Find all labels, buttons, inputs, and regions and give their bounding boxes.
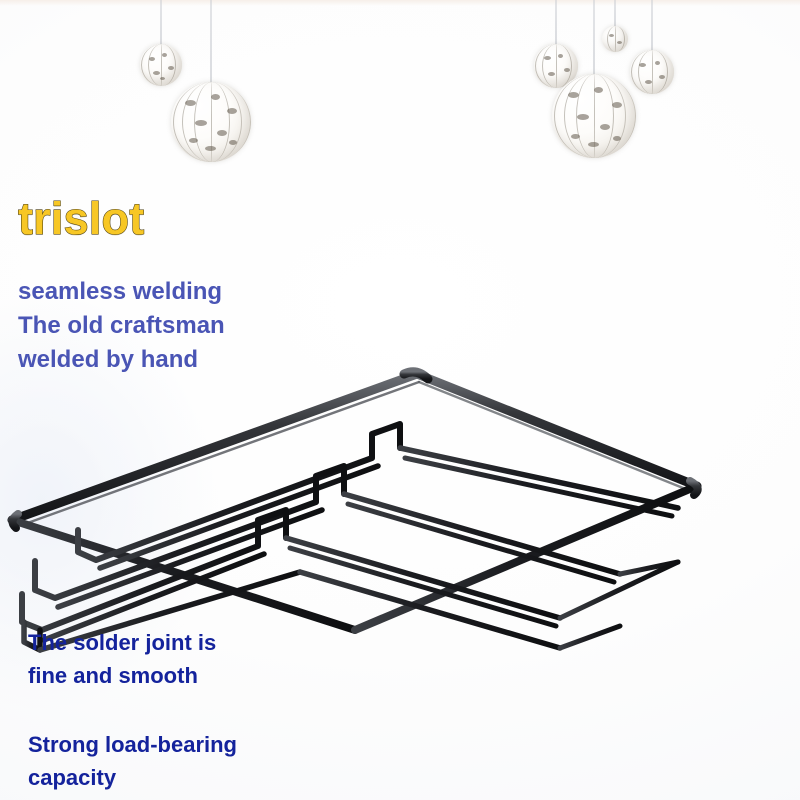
lamp-cord xyxy=(594,0,595,76)
lamp-globe xyxy=(171,82,251,162)
lamp-globe xyxy=(552,74,636,158)
product-photo: trislot seamless welding The old craftsm… xyxy=(0,0,800,800)
feature-1-line-2: fine and smooth xyxy=(28,660,198,691)
feature-2-line-1: Strong load-bearing xyxy=(28,729,237,760)
top-edge-tint xyxy=(0,0,800,6)
feature-2-line-2: capacity xyxy=(28,762,116,793)
feature-1-line-1: The solder joint is xyxy=(28,627,216,658)
lamp-cord xyxy=(652,0,653,52)
pendant-lamp-icon xyxy=(155,0,241,150)
lamp-cord xyxy=(211,0,212,84)
tagline-line-1: seamless welding xyxy=(18,276,222,307)
brand-logo: trislot xyxy=(18,193,144,245)
pendant-lamp-icon xyxy=(548,0,640,158)
